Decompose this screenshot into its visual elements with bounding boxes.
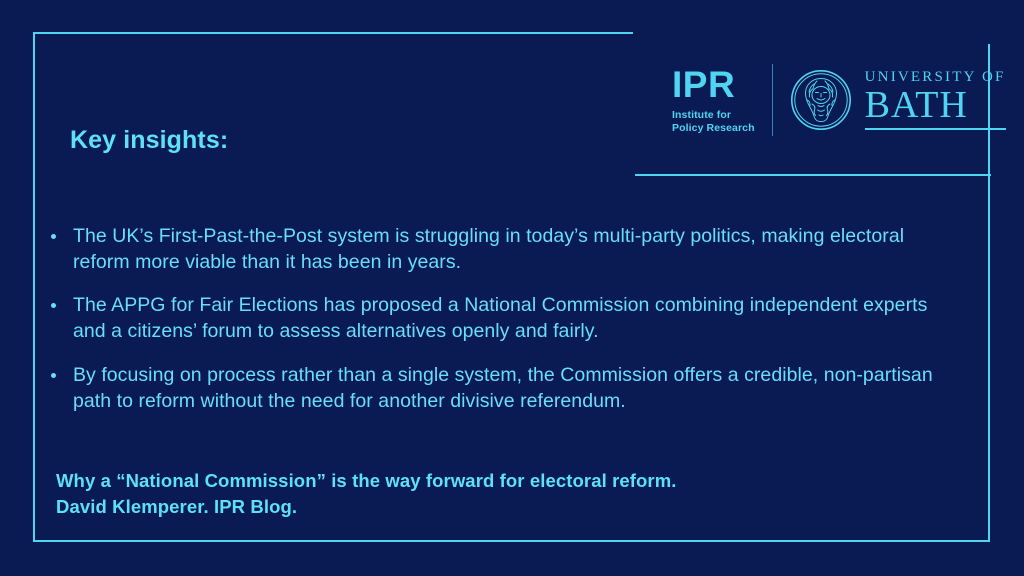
frame-notch-mask — [633, 24, 1013, 44]
bath-wordmark: UNIVERSITY OF BATH — [865, 70, 1006, 130]
logo-divider — [772, 64, 773, 136]
logo-band: IPR Institute for Policy Research — [672, 58, 1006, 142]
attribution: Why a “National Commission” is the way f… — [56, 468, 677, 521]
attribution-byline: David Klemperer. IPR Blog. — [56, 494, 677, 520]
ipr-wordmark: IPR — [672, 66, 755, 103]
list-item-text: The APPG for Fair Elections has proposed… — [73, 294, 927, 342]
list-item-text: By focusing on process rather than a sin… — [73, 364, 933, 412]
bath-crest-icon — [790, 69, 852, 131]
bullet-dot-icon — [51, 234, 56, 239]
bath-name-text: BATH — [865, 86, 1006, 125]
page-title: Key insights: — [70, 126, 228, 155]
ipr-subtitle-line1: Institute for — [672, 109, 755, 121]
bullet-dot-icon — [51, 303, 56, 308]
list-item: The APPG for Fair Elections has proposed… — [45, 293, 950, 344]
key-insights-list: The UK’s First-Past-the-Post system is s… — [45, 224, 950, 414]
bath-underline — [865, 128, 1006, 130]
ipr-subtitle-line2: Policy Research — [672, 122, 755, 134]
list-item: The UK’s First-Past-the-Post system is s… — [45, 224, 950, 275]
logo-underline-rule — [635, 174, 991, 176]
list-item: By focusing on process rather than a sin… — [45, 363, 950, 414]
list-item-text: The UK’s First-Past-the-Post system is s… — [73, 225, 904, 273]
attribution-title: Why a “National Commission” is the way f… — [56, 468, 677, 494]
slide-canvas: IPR Institute for Policy Research — [0, 0, 1024, 576]
university-of-bath-logo: UNIVERSITY OF BATH — [790, 69, 1006, 131]
ipr-subtitle: Institute for Policy Research — [672, 109, 755, 134]
bullet-dot-icon — [51, 373, 56, 378]
ipr-logo: IPR Institute for Policy Research — [672, 66, 755, 134]
bath-university-of-text: UNIVERSITY OF — [865, 70, 1006, 85]
